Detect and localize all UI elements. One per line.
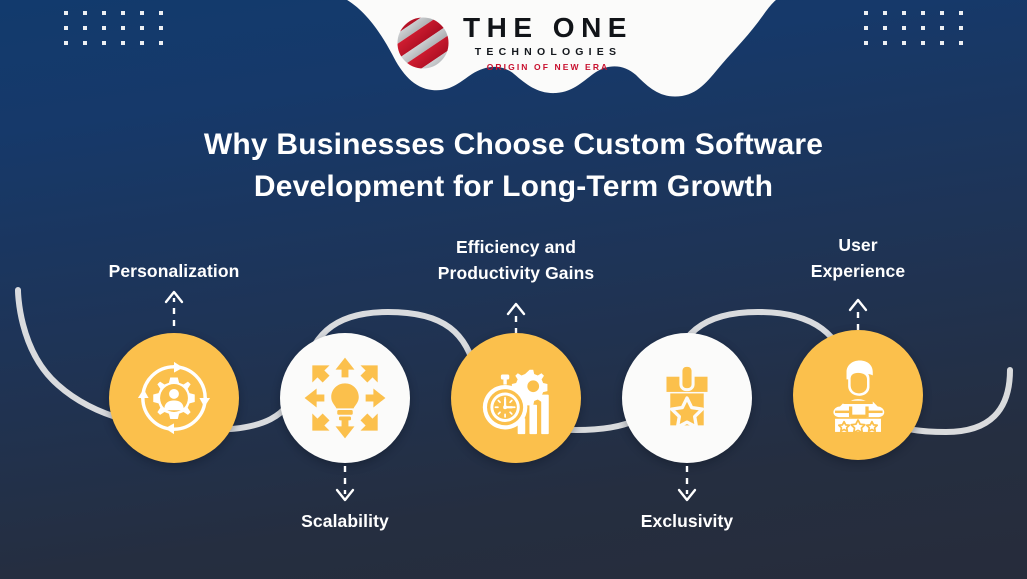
gear-user-refresh-icon: [133, 357, 215, 439]
step-3-label-line-2: Productivity Gains: [416, 260, 616, 286]
step-3-icon-circle[interactable]: [451, 333, 581, 463]
person-thumbs-up-stars-icon: [817, 354, 899, 436]
infographic-canvas: THE ONE TECHNOLOGIES ORIGIN OF NEW ERA W…: [0, 0, 1027, 579]
page-title: Why Businesses Choose Custom Software De…: [0, 124, 1027, 208]
arrow-up-dashed-icon: [758, 294, 958, 330]
logo-tagline: ORIGIN OF NEW ERA: [487, 62, 610, 72]
step-4-label: Exclusivity: [587, 508, 787, 534]
brand-logo: THE ONE TECHNOLOGIES ORIGIN OF NEW ERA: [0, 14, 1027, 72]
lightbulb-expand-arrows-icon: [302, 355, 388, 441]
step-5-label: User Experience: [758, 232, 958, 284]
step-4-icon-circle[interactable]: [622, 333, 752, 463]
step-2-label: Scalability: [245, 508, 445, 534]
step-1-label: Personalization: [74, 258, 274, 284]
step-5-label-line-2: Experience: [758, 258, 958, 284]
arrow-down-dashed-icon: [587, 466, 787, 508]
step-3-label: Efficiency and Productivity Gains: [416, 234, 616, 286]
logo-secondary-text: TECHNOLOGIES: [475, 46, 621, 58]
step-2-icon-circle[interactable]: [280, 333, 410, 463]
arrow-down-dashed-icon: [245, 466, 445, 508]
step-1-icon-circle[interactable]: [109, 333, 239, 463]
step-3-label-line-1: Efficiency and: [416, 234, 616, 260]
arrow-up-dashed-icon: [416, 298, 616, 334]
badge-star-icon: [649, 360, 725, 436]
logo-primary-text: THE ONE: [463, 14, 633, 43]
arrow-up-dashed-icon: [74, 284, 274, 326]
striped-globe-logo-icon: [394, 14, 452, 72]
stopwatch-gear-bar-chart-icon: [474, 356, 558, 440]
step-5-label-line-1: User: [758, 232, 958, 258]
step-5-icon-circle[interactable]: [793, 330, 923, 460]
